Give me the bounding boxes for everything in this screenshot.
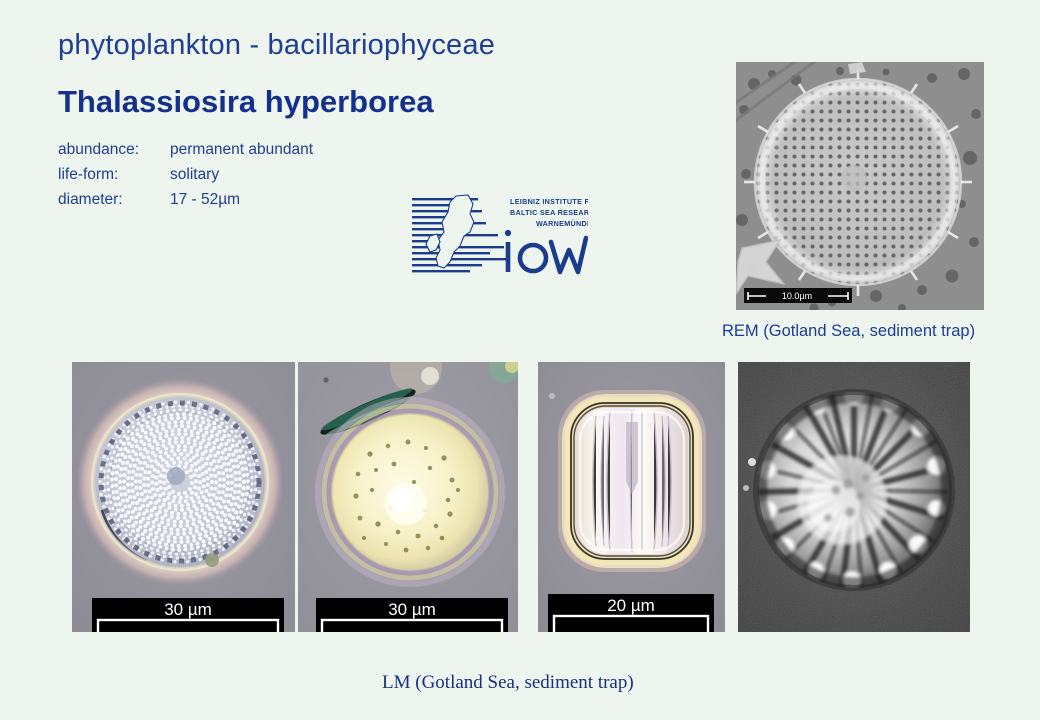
property-row: abundance: permanent abundant	[58, 137, 313, 162]
lm2-scale-bar: 30 µm	[316, 598, 508, 632]
property-value: permanent abundant	[170, 137, 313, 162]
lm3-scale-bar: 20 µm	[548, 594, 714, 632]
logo-line-2: BALTIC SEA RESEARCH	[510, 208, 588, 217]
logo-line-3: WARNEMÜNDE	[536, 219, 588, 228]
property-key: life-form:	[58, 162, 170, 187]
iow-logo: LEIBNIZ INSTITUTE FOR BALTIC SEA RESEARC…	[410, 192, 588, 280]
sem-caption: REM (Gotland Sea, sediment trap)	[722, 322, 975, 341]
svg-text:30 µm: 30 µm	[388, 600, 436, 619]
property-key: diameter:	[58, 187, 170, 212]
sem-scale-bar: 10.0µm	[744, 288, 852, 303]
svg-text:30 µm: 30 µm	[164, 600, 212, 619]
lm1-scale-bar: 30 µm	[92, 598, 284, 632]
property-list: abundance: permanent abundant life-form:…	[58, 137, 313, 212]
lm-panel-4	[738, 362, 970, 632]
property-row: diameter: 17 - 52µm	[58, 187, 313, 212]
svg-text:20 µm: 20 µm	[607, 596, 655, 615]
lm-panel-2: 30 µm	[298, 362, 518, 632]
slide-canvas: phytoplankton - bacillariophyceae Thalas…	[0, 0, 1040, 720]
lm-panel-1: 30 µm	[72, 362, 295, 632]
lm-caption: LM (Gotland Sea, sediment trap)	[382, 672, 634, 694]
svg-text:10.0µm: 10.0µm	[782, 291, 812, 301]
lm-panel-3: 20 µm	[538, 362, 725, 632]
species-name: Thalassiosira hyperborea	[58, 84, 434, 120]
property-value: 17 - 52µm	[170, 187, 240, 212]
property-key: abundance:	[58, 137, 170, 162]
logo-line-1: LEIBNIZ INSTITUTE FOR	[510, 197, 588, 206]
sem-image: 10.0µm	[736, 62, 984, 310]
property-row: life-form: solitary	[58, 162, 313, 187]
page-title: phytoplankton - bacillariophyceae	[58, 29, 495, 62]
property-value: solitary	[170, 162, 219, 187]
